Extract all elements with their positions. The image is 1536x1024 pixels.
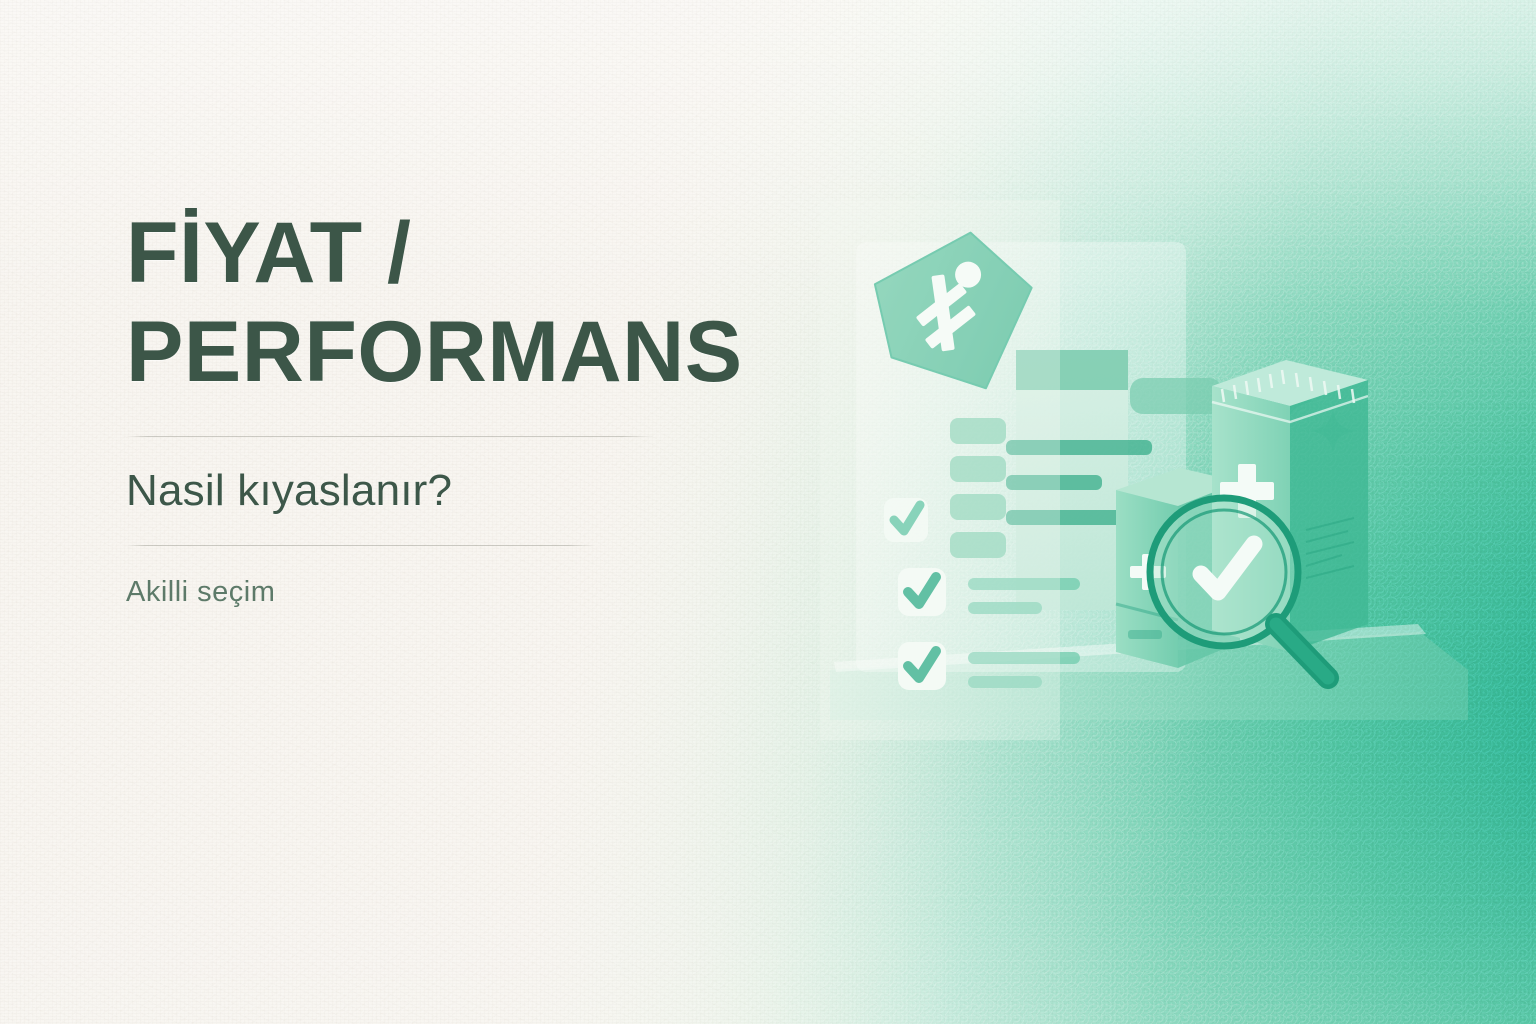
divider-bottom bbox=[126, 545, 596, 546]
divider-top bbox=[126, 436, 654, 437]
page-subtitle: Nasil kıyaslanır? bbox=[126, 467, 826, 515]
page-title-line-2: PERFORMANS bbox=[126, 303, 826, 402]
slide-canvas: FİYAT / PERFORMANS Nasil kıyaslanır? Aki… bbox=[0, 0, 1536, 1024]
page-title: FİYAT / PERFORMANS bbox=[126, 204, 826, 402]
document-pill-tab bbox=[1130, 378, 1222, 414]
price-performance-illustration bbox=[820, 200, 1470, 740]
text-block: FİYAT / PERFORMANS Nasil kıyaslanır? Aki… bbox=[126, 204, 826, 609]
page-title-line-1: FİYAT / bbox=[126, 205, 411, 301]
page-tertiary-text: Akilli seçim bbox=[126, 576, 826, 609]
illustration-container bbox=[820, 200, 1470, 740]
